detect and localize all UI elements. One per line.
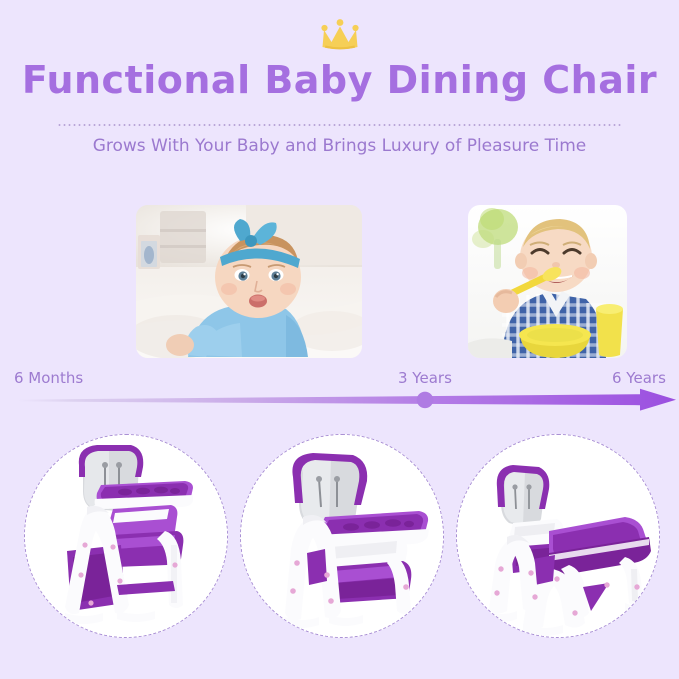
photo-toddler-eating xyxy=(468,205,627,358)
timeline-label-end: 6 Years xyxy=(612,369,666,387)
product-table-and-chair xyxy=(456,434,660,638)
page-title: Functional Baby Dining Chair xyxy=(0,58,679,102)
infographic-page: Functional Baby Dining Chair Grows With … xyxy=(0,0,679,679)
timeline-arrow xyxy=(0,388,679,414)
timeline-label-start: 6 Months xyxy=(14,369,83,387)
timeline-label-middle: 3 Years xyxy=(398,369,452,387)
product-booster-chair xyxy=(240,434,444,638)
crown-icon xyxy=(317,18,363,52)
page-subtitle: Grows With Your Baby and Brings Luxury o… xyxy=(0,136,679,156)
crown-icon-wrap xyxy=(0,18,679,52)
photo-baby-lying xyxy=(136,205,362,358)
title-divider xyxy=(57,124,622,126)
product-high-chair xyxy=(24,434,228,638)
